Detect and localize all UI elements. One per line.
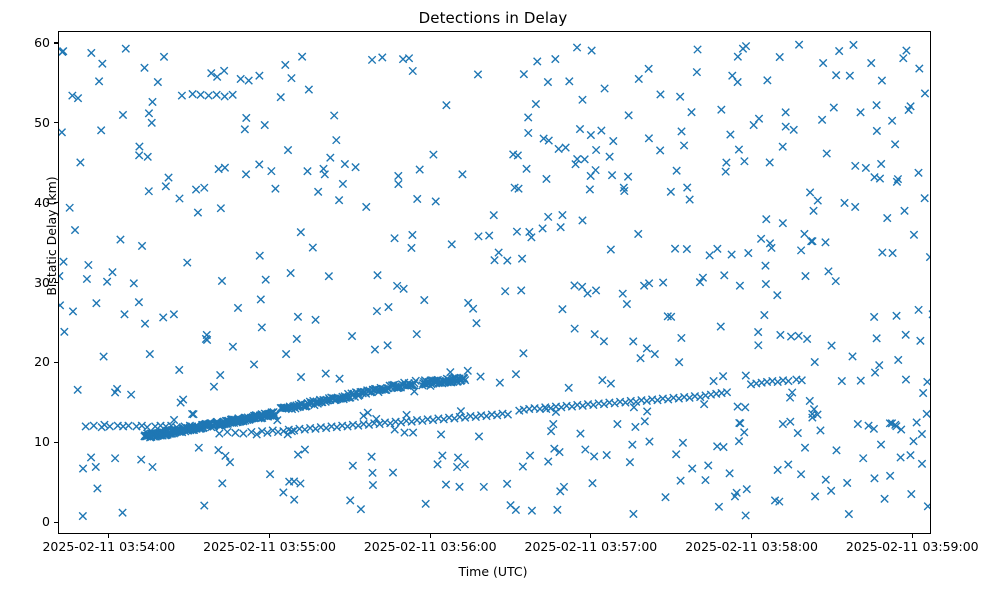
x-tick-label: 2025-02-11 03:56:00 xyxy=(345,540,515,554)
y-tick-mark xyxy=(54,42,58,43)
y-tick-label: 20 xyxy=(8,355,50,368)
y-tick-label: 30 xyxy=(8,276,50,289)
x-tick-label: 2025-02-11 03:55:00 xyxy=(185,540,355,554)
y-tick-label: 50 xyxy=(8,116,50,129)
y-tick-mark xyxy=(54,522,58,523)
x-tick-label: 2025-02-11 03:59:00 xyxy=(827,540,986,554)
scatter-data-layer xyxy=(59,32,930,533)
y-tick-mark xyxy=(54,282,58,283)
y-tick-mark xyxy=(54,122,58,123)
y-tick-mark xyxy=(54,362,58,363)
y-tick-mark xyxy=(54,442,58,443)
matplotlib-figure: Detections in Delay Bistatic Delay (km) … xyxy=(0,0,986,590)
y-tick-label: 0 xyxy=(8,515,50,528)
x-tick-mark xyxy=(590,534,591,538)
y-tick-label: 60 xyxy=(8,36,50,49)
x-tick-mark xyxy=(751,534,752,538)
y-axis-label: Bistatic Delay (km) xyxy=(44,136,59,336)
x-tick-label: 2025-02-11 03:54:00 xyxy=(24,540,194,554)
plot-axes xyxy=(58,31,931,534)
x-tick-label: 2025-02-11 03:58:00 xyxy=(667,540,837,554)
x-tick-mark xyxy=(269,534,270,538)
page-title: Detections in Delay xyxy=(0,8,986,28)
x-tick-mark xyxy=(108,534,109,538)
x-axis-label: Time (UTC) xyxy=(0,564,986,579)
y-tick-label: 40 xyxy=(8,196,50,209)
y-tick-label: 10 xyxy=(8,435,50,448)
x-tick-mark xyxy=(912,534,913,538)
scatter-series-detections xyxy=(59,32,930,533)
y-tick-mark xyxy=(54,202,58,203)
x-tick-label: 2025-02-11 03:57:00 xyxy=(506,540,676,554)
x-tick-mark xyxy=(430,534,431,538)
